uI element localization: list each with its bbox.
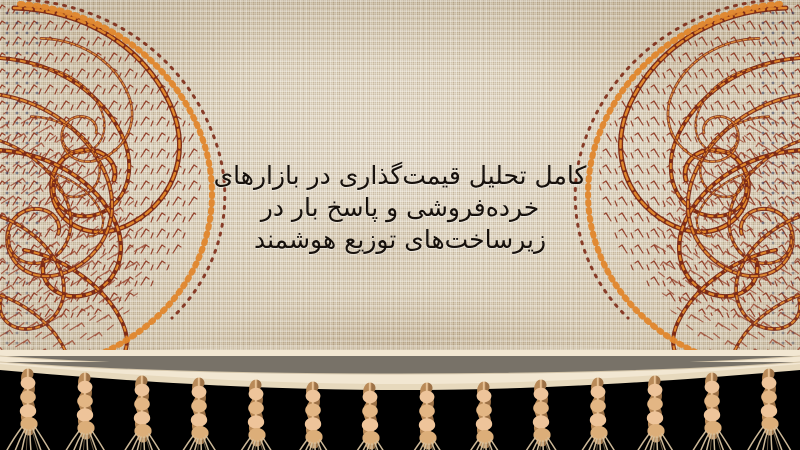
slide-title: کامل تحلیل قیمت‌گذاری در بازارهای خرده‌ف… bbox=[0, 160, 800, 256]
fringe-svg bbox=[0, 350, 800, 450]
tassel-fringe bbox=[0, 350, 800, 450]
title-line-3: زیرساخت‌های توزیع هوشمند bbox=[0, 224, 800, 256]
title-line-2: خرده‌فروشی و پاسخ بار در bbox=[0, 192, 800, 224]
slide-canvas: کامل تحلیل قیمت‌گذاری در بازارهای خرده‌ف… bbox=[0, 0, 800, 450]
title-line-1: کامل تحلیل قیمت‌گذاری در بازارهای bbox=[0, 160, 800, 192]
